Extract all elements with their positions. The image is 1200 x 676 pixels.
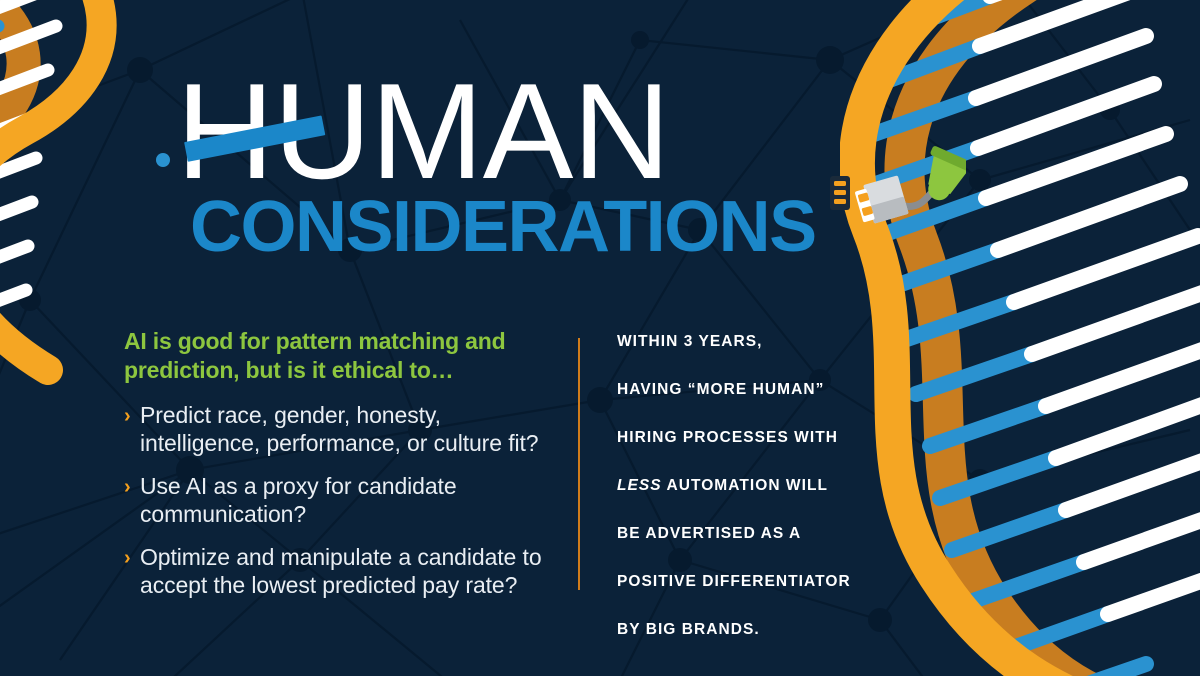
chevron-right-icon: ›: [124, 402, 140, 430]
list-item: › Predict race, gender, honesty, intelli…: [124, 401, 564, 457]
emphasis-word: LESS: [617, 477, 662, 494]
prediction-line: HIRING PROCESSES WITH: [617, 429, 897, 446]
prediction-line: POSITIVE DIFFERENTIATOR: [617, 573, 897, 590]
prediction-line: BE ADVERTISED AS A: [617, 525, 897, 542]
prediction-line-emphasis: LESS AUTOMATION WILL: [617, 477, 897, 494]
lead-in-question: AI is good for pattern matching and pred…: [124, 327, 564, 385]
chevron-right-icon: ›: [124, 544, 140, 572]
list-item: › Optimize and manipulate a candidate to…: [124, 543, 564, 599]
slide-canvas: HUMAN CONSIDERATIONS AI is good for patt…: [0, 0, 1200, 676]
list-item-text: Optimize and manipulate a candidate to a…: [140, 543, 564, 599]
list-item-text: Use AI as a proxy for candidate communic…: [140, 472, 564, 528]
prediction-line: WITHIN 3 YEARS,: [617, 333, 897, 350]
list-item: › Use AI as a proxy for candidate commun…: [124, 472, 564, 528]
prediction-line-rest: AUTOMATION WILL: [662, 477, 828, 494]
left-content-column: AI is good for pattern matching and pred…: [124, 327, 564, 614]
prediction-line: HAVING “MORE HUMAN”: [617, 381, 897, 398]
list-item-text: Predict race, gender, honesty, intellige…: [140, 401, 564, 457]
column-divider: [578, 338, 580, 590]
page-title: HUMAN: [176, 56, 796, 206]
title-block: HUMAN CONSIDERATIONS: [176, 56, 796, 266]
right-prediction-column: WITHIN 3 YEARS, HAVING “MORE HUMAN” HIRI…: [617, 333, 897, 669]
chevron-right-icon: ›: [124, 473, 140, 501]
prediction-line: BY BIG BRANDS.: [617, 621, 897, 638]
